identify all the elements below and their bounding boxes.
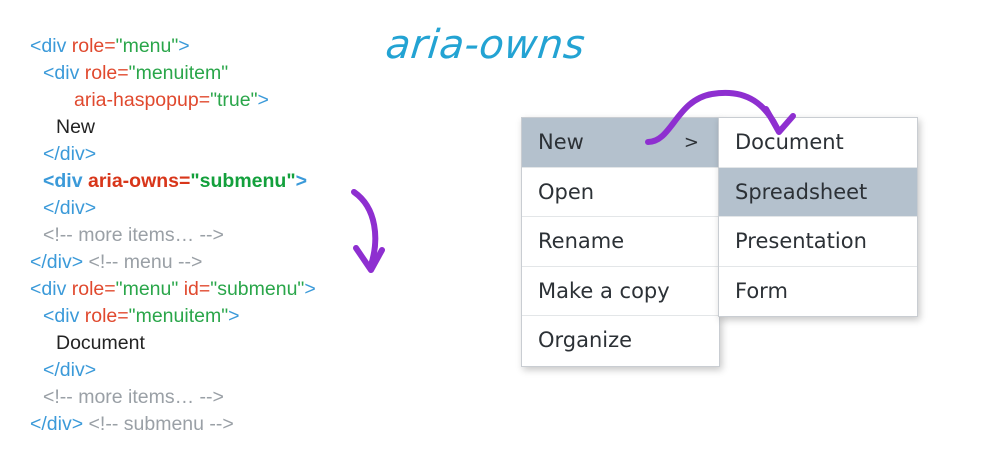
- code-line: </div>: [30, 357, 316, 384]
- menu-item-new[interactable]: New>: [522, 118, 719, 168]
- code-token-cmt: <!-- more items… -->: [43, 224, 224, 246]
- menu-item-form[interactable]: Form: [719, 267, 917, 317]
- code-token-tag: <div: [30, 278, 72, 300]
- code-line: </div>: [30, 141, 316, 168]
- menu-item-label: Open: [538, 180, 594, 204]
- code-line: <div aria-owns="submenu">: [30, 168, 316, 195]
- code-line: </div>: [30, 195, 316, 222]
- code-token-txt: Document: [56, 332, 145, 354]
- code-token-attr: role: [72, 35, 105, 57]
- code-token-attr: aria-owns: [88, 170, 179, 192]
- code-token-tag: >: [228, 305, 239, 327]
- code-line: <div role="menu">: [30, 33, 316, 60]
- code-line: <!-- more items… -->: [30, 384, 316, 411]
- code-token-attr: =: [199, 278, 210, 300]
- code-token-val: "menuitem": [129, 305, 228, 327]
- code-token-val: "menuitem": [129, 62, 228, 84]
- code-listing: <div role="menu"><div role="menuitem"ari…: [30, 33, 316, 438]
- code-token-attr: role: [85, 62, 118, 84]
- code-token-attr: =: [104, 278, 115, 300]
- code-token-attr: aria-haspopup: [74, 89, 199, 111]
- code-token-val: "menu": [116, 35, 179, 57]
- code-token-tag: </div>: [30, 413, 89, 435]
- code-token-tag: </div>: [30, 251, 89, 273]
- code-token-cmt: <!-- more items… -->: [43, 386, 224, 408]
- menu-item-label: Document: [735, 130, 844, 154]
- code-token-cmt: <!-- submenu -->: [89, 413, 234, 435]
- code-line: <!-- more items… -->: [30, 222, 316, 249]
- code-token-attr: id: [178, 278, 199, 300]
- code-token-tag: <div: [43, 170, 88, 192]
- menu-item-rename[interactable]: Rename: [522, 217, 719, 267]
- code-token-tag: <div: [30, 35, 72, 57]
- code-token-attr: =: [117, 305, 128, 327]
- slide-canvas: aria-owns <div role="menu"><div role="me…: [0, 0, 1000, 471]
- page-title: aria-owns: [384, 22, 588, 68]
- menu-item-label: Form: [735, 279, 788, 303]
- code-token-tag: </div>: [43, 359, 96, 381]
- code-token-attr: =: [104, 35, 115, 57]
- menu-item-open[interactable]: Open: [522, 168, 719, 218]
- main-menu[interactable]: New>OpenRenameMake a copyOrganize: [521, 117, 720, 367]
- code-token-val: "true": [210, 89, 257, 111]
- code-line: </div> <!-- menu -->: [30, 249, 316, 276]
- code-token-tag: <div: [43, 305, 85, 327]
- code-line: <div role="menuitem": [30, 60, 316, 87]
- code-token-val: "menu": [116, 278, 179, 300]
- code-line: Document: [30, 330, 316, 357]
- menu-item-label: Rename: [538, 229, 624, 253]
- menu-item-document[interactable]: Document: [719, 118, 917, 168]
- menu-item-organize[interactable]: Organize: [522, 316, 719, 366]
- submenu-chevron-icon: >: [684, 118, 699, 168]
- code-line: New: [30, 114, 316, 141]
- code-token-attr: =: [179, 170, 190, 192]
- code-token-val: "submenu": [190, 170, 295, 192]
- menu-item-label: New: [538, 130, 584, 154]
- code-token-tag: </div>: [43, 197, 96, 219]
- menu-item-label: Presentation: [735, 229, 867, 253]
- sub-menu[interactable]: DocumentSpreadsheetPresentationForm: [718, 117, 918, 317]
- menu-item-label: Spreadsheet: [735, 180, 867, 204]
- code-line: aria-haspopup="true">: [30, 87, 316, 114]
- code-token-attr: role: [72, 278, 105, 300]
- code-token-attr: =: [117, 62, 128, 84]
- code-token-tag: >: [258, 89, 269, 111]
- menu-item-make-a-copy[interactable]: Make a copy: [522, 267, 719, 317]
- code-line: </div> <!-- submenu -->: [30, 411, 316, 438]
- code-token-tag: <div: [43, 62, 85, 84]
- code-token-txt: New: [56, 116, 95, 138]
- code-token-tag: </div>: [43, 143, 96, 165]
- code-token-attr: =: [199, 89, 210, 111]
- code-line: <div role="menuitem">: [30, 303, 316, 330]
- code-token-cmt: <!-- menu -->: [89, 251, 203, 273]
- code-token-tag: >: [304, 278, 315, 300]
- code-token-attr: role: [85, 305, 118, 327]
- code-token-tag: >: [178, 35, 189, 57]
- code-token-tag: >: [296, 170, 307, 192]
- menu-item-spreadsheet[interactable]: Spreadsheet: [719, 168, 917, 218]
- code-line: <div role="menu" id="submenu">: [30, 276, 316, 303]
- menu-item-label: Make a copy: [538, 279, 670, 303]
- code-to-submenu-arrow: [354, 192, 382, 270]
- code-token-val: "submenu": [210, 278, 304, 300]
- menu-item-presentation[interactable]: Presentation: [719, 217, 917, 267]
- menu-item-label: Organize: [538, 328, 632, 352]
